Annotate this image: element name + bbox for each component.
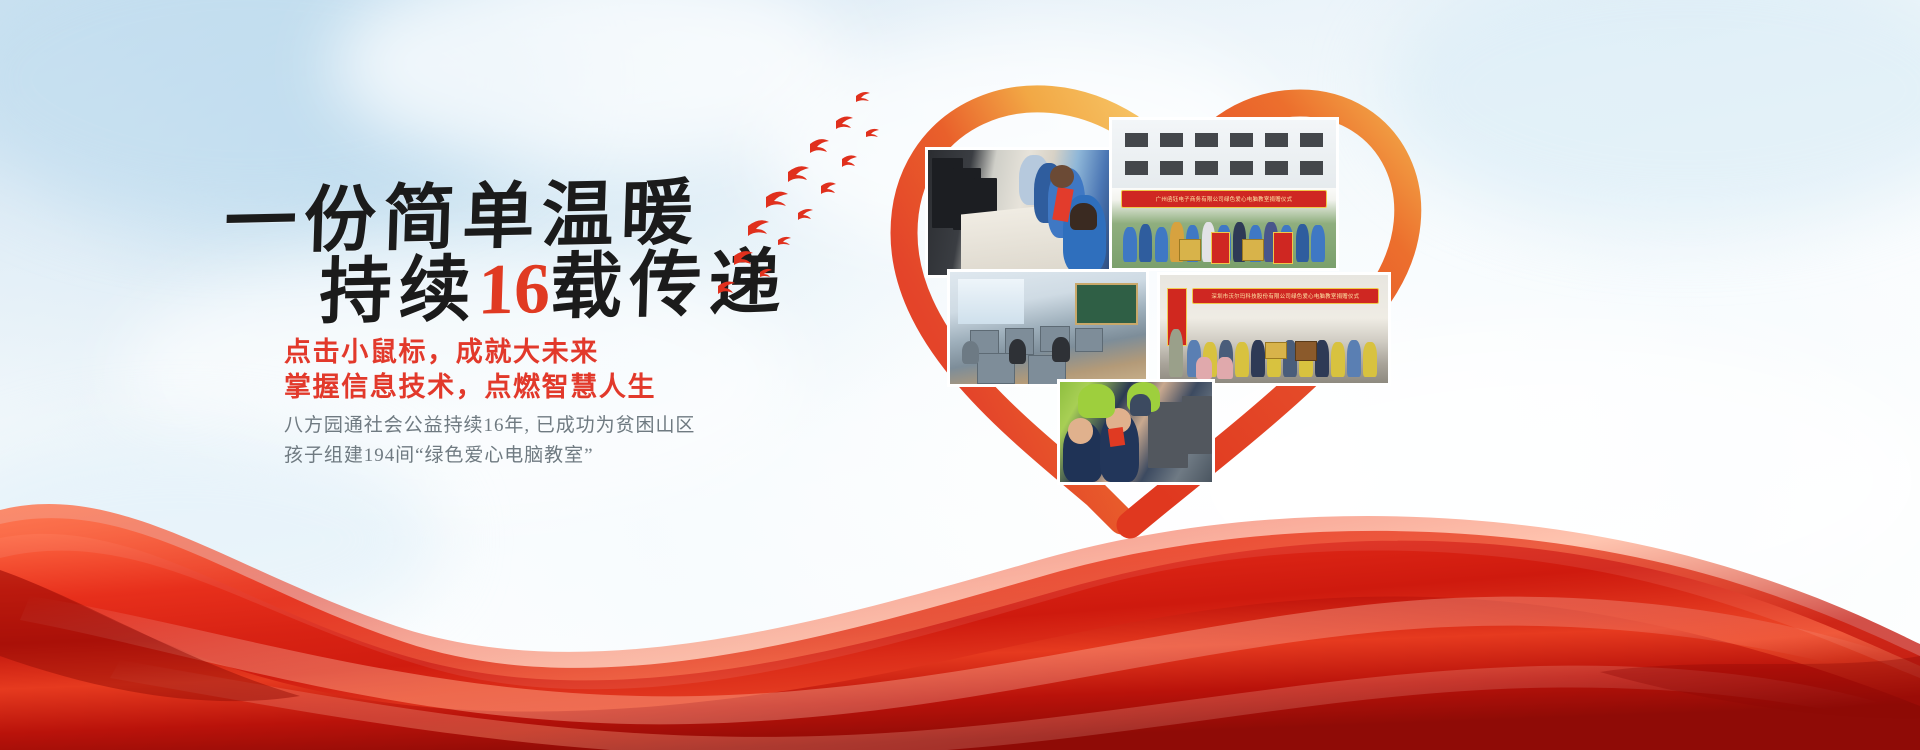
subtitle-line-1: 点击小鼠标，成就大未来 <box>284 330 599 369</box>
photo-classroom <box>950 272 1146 384</box>
photo-caption-banner: 深圳市沃尔玛科技股份有限公司绿色爱心电脑教室捐赠仪式 <box>1192 288 1379 304</box>
photo-caption-banner: 广州函钰电子商务有限公司绿色爱心电脑教室捐赠仪式 <box>1121 190 1327 208</box>
headline-year-count: 16 <box>477 248 552 329</box>
subtitle-line-2: 掌握信息技术，点燃智慧人生 <box>284 365 656 404</box>
photo-lab-closeup <box>928 150 1110 275</box>
photo-ceremony-school: 广州函钰电子商务有限公司绿色爱心电脑教室捐赠仪式 <box>1112 120 1336 268</box>
red-silk-ribbon-decoration <box>0 420 1920 750</box>
photo-ceremony-hall: 深圳市沃尔玛科技股份有限公司绿色爱心电脑教室捐赠仪式 <box>1160 275 1388 383</box>
charity-hero-banner: 一份简单温暖 持续16载传递 点击小鼠标，成就大未来 掌握信息技术，点燃智慧人生… <box>0 0 1920 750</box>
headline-line-2-prefix: 持续 <box>318 250 479 333</box>
